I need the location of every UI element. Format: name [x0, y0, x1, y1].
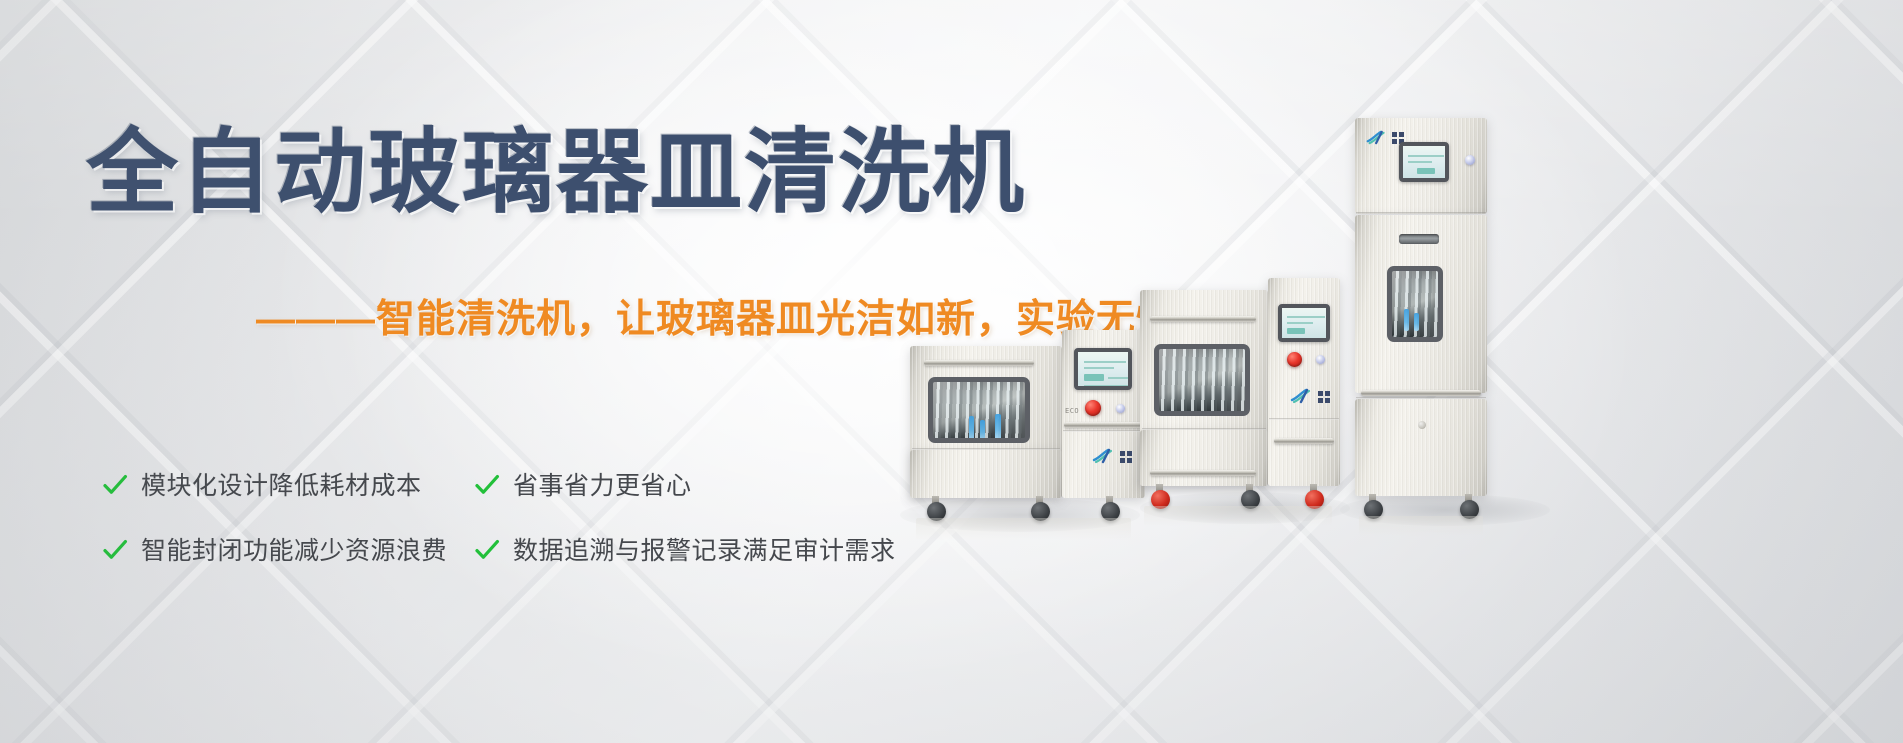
hmi-screen-button: [1084, 374, 1104, 381]
logo-mark-icon: [1092, 448, 1118, 464]
hmi-screen-button: [1417, 168, 1435, 174]
logo-square: [1325, 391, 1330, 396]
logo-square: [1127, 458, 1132, 463]
brushed-steel-texture: [910, 450, 1062, 498]
feature-label: 省事省力更省心: [513, 466, 692, 502]
window-glare: [1392, 271, 1438, 337]
hmi-touchscreen[interactable]: [1278, 304, 1330, 342]
feature-label: 模块化设计降低耗材成本: [141, 466, 422, 502]
logo-square: [1127, 451, 1132, 456]
logo-square: [1318, 391, 1323, 396]
logo-mark-icon: [1365, 130, 1391, 145]
brand-logo: [1092, 448, 1136, 464]
hmi-screen-line: [1108, 377, 1128, 379]
emergency-stop-button[interactable]: [1085, 400, 1101, 416]
window-glare: [1159, 349, 1245, 411]
chamber-viewing-window: [928, 377, 1030, 443]
hmi-screen-button: [1287, 328, 1305, 334]
logo-square: [1392, 132, 1397, 137]
lower-door-handle[interactable]: [1150, 470, 1256, 476]
hmi-screen-line: [1408, 155, 1444, 157]
floor-reflection: [1359, 516, 1483, 536]
floor-reflection: [1144, 506, 1332, 526]
brand-logo: [1290, 388, 1334, 404]
product-freestanding-glassware-washer[interactable]: [1140, 278, 1340, 513]
brushed-steel-texture: [1355, 399, 1487, 496]
hmi-touchscreen[interactable]: [1399, 142, 1449, 182]
chamber-viewing-window: [1387, 266, 1443, 342]
cabinet-lock-dot[interactable]: [1418, 421, 1426, 429]
hmi-screen-line: [1084, 367, 1114, 369]
feature-label: 数据追溯与报警记录满足审计需求: [513, 531, 896, 567]
feature-row: 模块化设计降低耗材成本 省事省力更省心: [102, 466, 1002, 502]
lower-drawer-panel: [1140, 430, 1268, 486]
feature-row: 智能封闭功能减少资源浪费 数据追溯与报警记录满足审计需求: [102, 531, 1002, 567]
hmi-screen-line: [1287, 316, 1325, 318]
hmi-screen-line: [1408, 161, 1432, 163]
door-handle[interactable]: [1150, 316, 1256, 322]
hmi-screen-line: [1084, 385, 1128, 387]
window-glare: [933, 382, 1025, 438]
tower-trim-handle: [1064, 422, 1142, 428]
tower-trim-handle: [1274, 438, 1334, 444]
hmi-touchscreen[interactable]: [1074, 348, 1132, 390]
feature-list: 模块化设计降低耗材成本 省事省力更省心: [102, 466, 1002, 596]
door-handle[interactable]: [924, 360, 1034, 366]
indicator-button[interactable]: [1465, 155, 1475, 165]
product-banner: 全自动玻璃器皿清洗机 ———智能清洗机，让玻璃器皿光洁如新，实验无忧！ 模块化设…: [0, 0, 1903, 743]
check-icon: [102, 537, 128, 563]
hmi-screen-line: [1287, 322, 1313, 324]
list-item: 省事省力更省心: [474, 466, 692, 502]
list-item: 智能封闭功能减少资源浪费: [102, 531, 474, 567]
product-undercounter-glassware-washer[interactable]: ECO: [910, 330, 1145, 515]
logo-square: [1120, 458, 1125, 463]
door-latch-vent: [1399, 234, 1439, 244]
logo-mark-icon: [1290, 388, 1316, 404]
feature-label: 智能封闭功能减少资源浪费: [141, 531, 447, 567]
brushed-steel-texture: [1140, 430, 1268, 486]
indicator-button[interactable]: [1116, 404, 1125, 413]
lower-cabinet-section: [1355, 399, 1487, 496]
lower-drawer-panel: [910, 450, 1062, 498]
logo-square: [1399, 132, 1404, 137]
logo-square: [1318, 398, 1323, 403]
hmi-screen-line: [1287, 338, 1327, 340]
check-icon: [102, 472, 128, 498]
product-tall-column-glassware-washer[interactable]: [1355, 118, 1487, 518]
list-item: 模块化设计降低耗材成本: [102, 466, 474, 502]
chamber-viewing-window: [1154, 344, 1250, 416]
floor-reflection: [916, 518, 1131, 540]
check-icon: [474, 472, 500, 498]
hmi-screen-line: [1084, 361, 1126, 363]
hmi-screen-line: [1408, 178, 1446, 180]
logo-square: [1120, 451, 1125, 456]
page-title: 全自动玻璃器皿清洗机: [86, 98, 1026, 231]
panel-seam: [1269, 418, 1339, 420]
list-item: 数据追溯与报警记录满足审计需求: [474, 531, 896, 567]
panel-seam: [1063, 430, 1144, 432]
emergency-stop-button[interactable]: [1287, 352, 1302, 367]
logo-square: [1392, 139, 1397, 144]
panel-code-label: ECO: [1065, 407, 1079, 415]
check-icon: [474, 537, 500, 563]
logo-square: [1325, 398, 1330, 403]
indicator-button[interactable]: [1316, 355, 1325, 364]
door-handle[interactable]: [1361, 390, 1481, 396]
